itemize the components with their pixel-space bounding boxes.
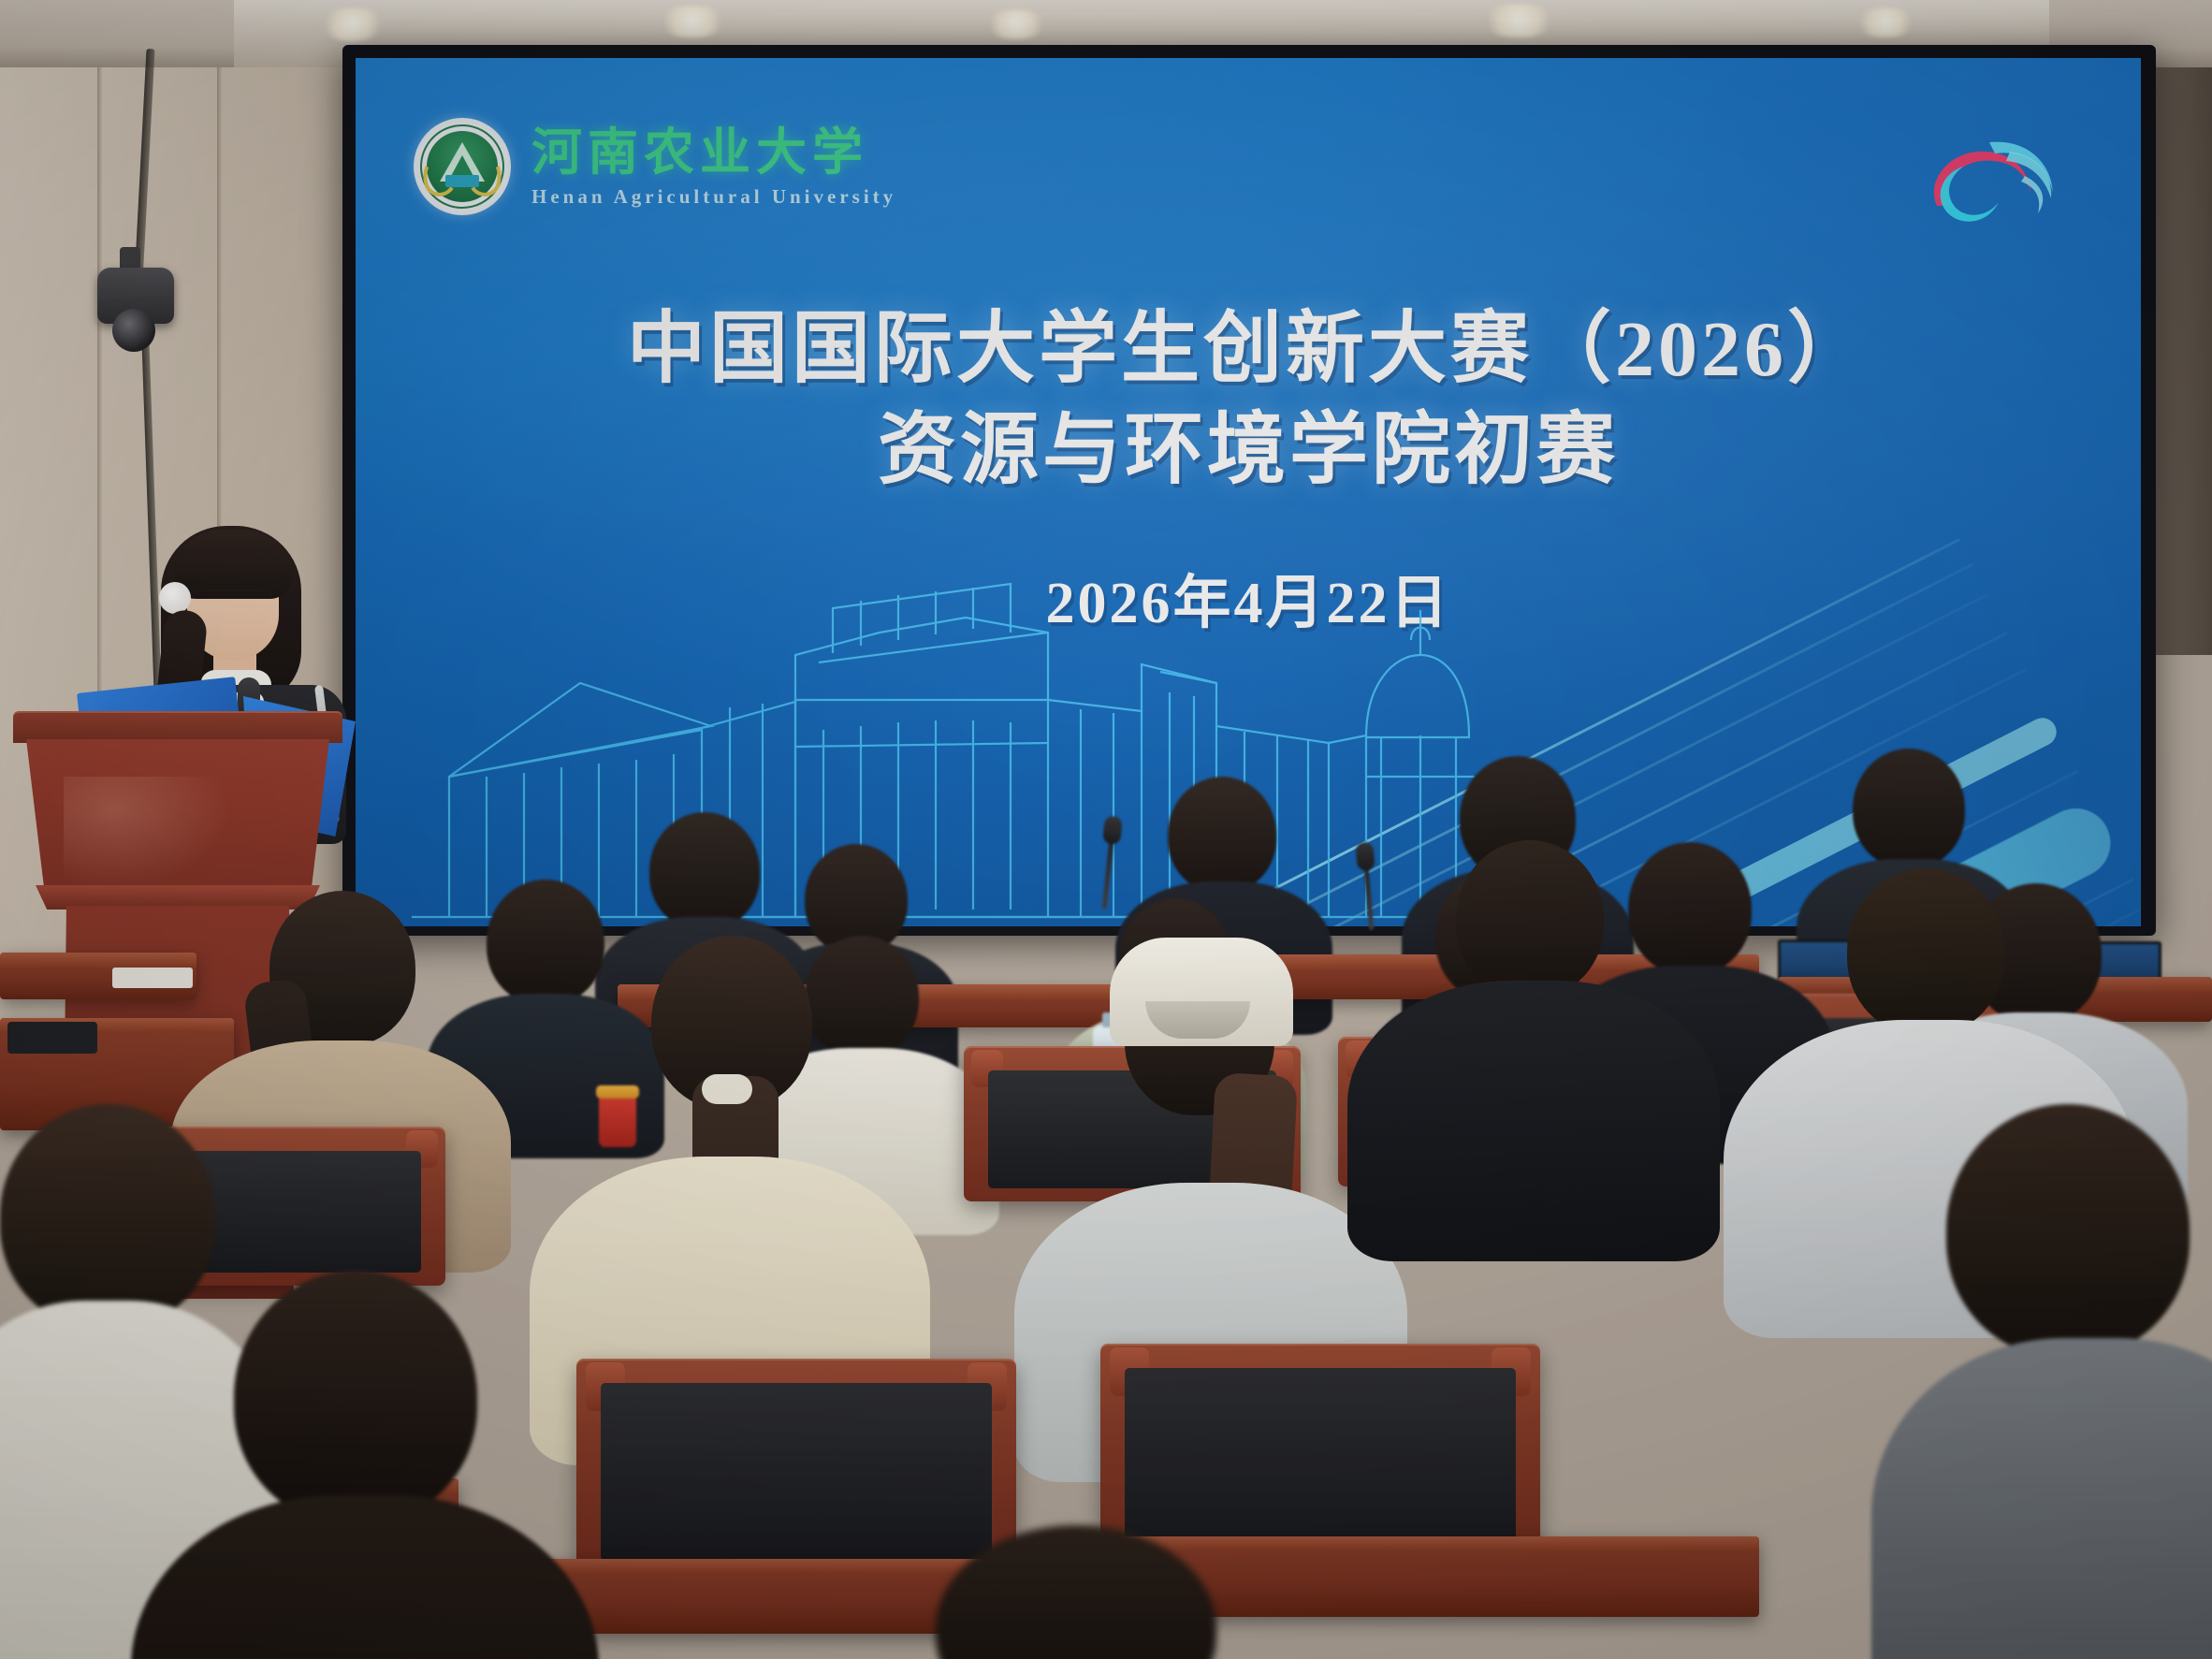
equipment-box bbox=[7, 1022, 97, 1054]
chair bbox=[1100, 1344, 1540, 1564]
wave-swirl-logo-icon bbox=[1920, 120, 2060, 223]
speaker-glasses-icon bbox=[195, 589, 273, 604]
university-name-en: Henan Agricultural University bbox=[531, 187, 896, 207]
chair bbox=[576, 1359, 1016, 1574]
hair-clip bbox=[159, 582, 191, 614]
speaker-hair bbox=[174, 530, 292, 599]
ceiling-light bbox=[982, 9, 1050, 39]
photo-canvas: 河南农业大学 Henan Agricultural University 中国国… bbox=[0, 0, 2212, 1659]
ceiling-light bbox=[655, 6, 730, 37]
ceiling-light bbox=[1853, 7, 1918, 37]
title-line-1: 中国国际大学生创新大赛（2026） bbox=[356, 299, 2141, 400]
hair-tie bbox=[702, 1074, 752, 1104]
paper-sheet bbox=[112, 968, 193, 988]
ceiling-light bbox=[1478, 4, 1559, 37]
classical-building-line-art bbox=[393, 543, 1478, 926]
title-line-2: 资源与环境学院初赛 bbox=[356, 400, 2141, 502]
right-wall-column bbox=[2156, 0, 2212, 655]
university-seal-icon bbox=[414, 118, 511, 215]
ptz-camera-icon bbox=[97, 268, 174, 324]
red-thermos bbox=[599, 1093, 636, 1147]
university-name-cn: 河南农业大学 bbox=[531, 127, 896, 178]
university-branding: 河南农业大学 Henan Agricultural University bbox=[414, 118, 896, 215]
ceiling-light bbox=[318, 7, 387, 41]
